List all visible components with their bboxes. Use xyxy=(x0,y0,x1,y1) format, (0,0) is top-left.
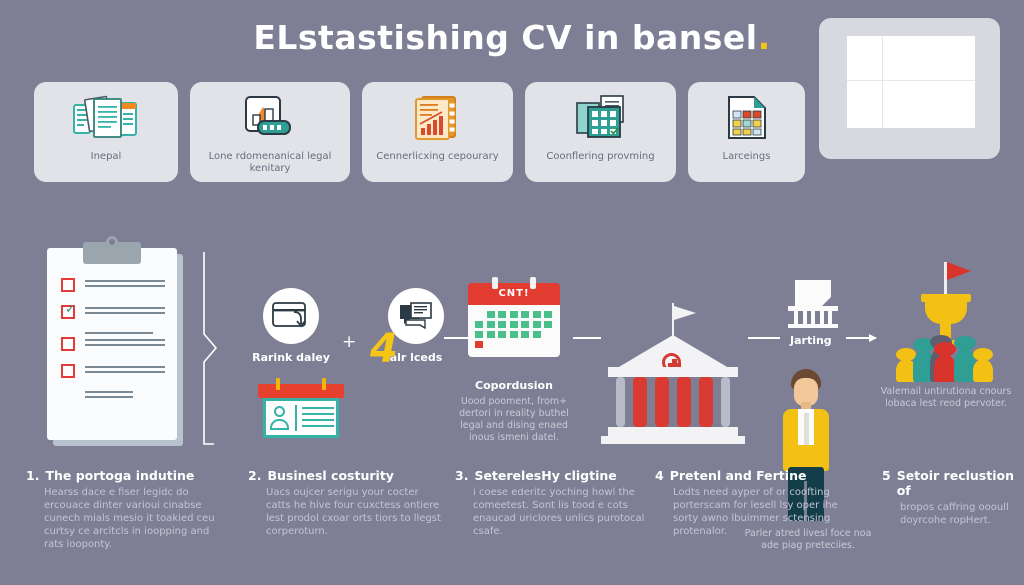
flow-connector-line xyxy=(573,337,601,339)
bank-document-icon xyxy=(786,280,840,328)
step-heading: 3. SeterelesHy cligtine xyxy=(455,468,651,483)
id-card-text-lines xyxy=(302,407,334,431)
step-body: Lodts need ayper of or coofting portersc… xyxy=(655,486,845,538)
step-number: 1. xyxy=(26,468,39,483)
flow-arrow-right xyxy=(846,337,876,339)
clipboard-page: ✓ xyxy=(47,248,177,440)
bank-plinth xyxy=(601,436,745,444)
team-pawns xyxy=(880,322,1012,382)
group-caption: Valemail untirutiona cnours lobaca lest … xyxy=(868,386,1024,410)
checkbox-unchecked[interactable] xyxy=(61,278,75,292)
category-card-label: Cennerlicxing cepourary xyxy=(376,151,498,163)
check-mark-icon: ✓ xyxy=(65,302,76,317)
clipboard-checklist-icon: ✓ xyxy=(47,248,183,446)
checkbox-unchecked[interactable] xyxy=(61,337,75,351)
id-card-avatar-torso xyxy=(270,419,289,430)
bank-base xyxy=(608,427,738,436)
id-card-peg xyxy=(276,378,280,390)
step-body: Hearss dace e fiser legidc do ercouace d… xyxy=(26,486,222,551)
step-title: SeterelesHy cligtine xyxy=(474,468,616,483)
card-return-icon xyxy=(263,288,319,344)
flow-node-copordusion: Copordusion Uood pooment, from+ dertori … xyxy=(455,372,573,444)
step-number: 3. xyxy=(455,468,468,483)
clipboard-row xyxy=(61,278,165,292)
clipboard-text-lines xyxy=(85,278,165,290)
flow-node-caption: Copordusion xyxy=(455,379,573,392)
mini-bank-sheet xyxy=(795,280,831,306)
step-item-2: 2. Businesl costurity Uacs oujcer serigu… xyxy=(248,468,444,538)
page-title-text: ELstastishing CV in bansel xyxy=(253,18,757,57)
mini-bank-base xyxy=(788,324,838,328)
clipboard-rows: ✓ xyxy=(61,278,165,401)
step-heading: 4 Pretenl and Fertine xyxy=(655,468,845,483)
trophy-cup xyxy=(925,298,967,324)
documents-icon xyxy=(73,93,139,143)
clipboard-row xyxy=(61,364,165,378)
trophy-team-icon xyxy=(880,262,1012,382)
plus-symbol: + xyxy=(342,332,356,352)
calendar-icon: CNT! xyxy=(468,277,560,361)
calendar-header: CNT! xyxy=(468,283,560,305)
trophy-flag xyxy=(947,262,971,280)
id-card-separator xyxy=(295,405,297,431)
sheet-vertical-gridline xyxy=(882,36,883,128)
flow-divider xyxy=(200,252,222,452)
step-item-3: 3. SeterelesHy cligtine i coese ederitc … xyxy=(455,468,651,538)
pawn-red xyxy=(934,342,956,382)
bank-flag xyxy=(674,306,696,320)
step-heading: 5 Setoir reclustion of xyxy=(882,468,1022,498)
step-body: Uacs oujcer serigu your cocter catts he … xyxy=(248,486,444,538)
category-card-provming[interactable]: Coonflering provming xyxy=(525,82,676,182)
title-period: . xyxy=(758,18,771,57)
id-card-header xyxy=(258,384,344,398)
bar-chart-report-icon xyxy=(414,93,462,143)
step-number: 5 xyxy=(882,468,891,483)
calendar-peg xyxy=(530,277,536,289)
blank-sheet xyxy=(847,36,975,128)
clipboard-text-lines xyxy=(85,332,165,334)
step-list: 1. The portoga indutine Hearss dace e fi… xyxy=(0,468,1024,578)
flow-node-caption-jarting: Jarting xyxy=(790,334,832,347)
spreadsheet-grid-icon xyxy=(726,93,768,143)
step-item-4: 4 Pretenl and Fertine Lodts need ayper o… xyxy=(655,468,845,538)
blank-preview-panel xyxy=(819,18,1000,159)
clipboard-text-lines xyxy=(85,391,165,398)
id-card-icon xyxy=(258,378,344,441)
category-card-larceings[interactable]: Larceings xyxy=(688,82,805,182)
flow-connector-line xyxy=(748,337,780,339)
category-card-label: Coonflering provming xyxy=(546,151,654,163)
clipboard-row xyxy=(61,337,165,351)
building-chart-icon xyxy=(244,93,296,143)
checkbox-unchecked[interactable] xyxy=(61,364,75,378)
bank-columns xyxy=(616,377,730,427)
flow-node-rarink-daley[interactable]: Rarink daley xyxy=(245,288,337,364)
category-card-legal-kenitary[interactable]: Lone rdomenanical legal kenitary xyxy=(190,82,350,182)
step-title: Businesl costurity xyxy=(267,468,394,483)
sheet-horizontal-gridline xyxy=(847,80,975,81)
step-heading: 2. Businesl costurity xyxy=(248,468,444,483)
category-card-label: Inepal xyxy=(91,151,122,163)
flow-step-digit-4: 4 xyxy=(370,329,398,369)
calendar-body xyxy=(468,305,560,357)
category-card-label: Larceings xyxy=(723,151,771,163)
id-card-avatar-head xyxy=(274,406,285,417)
infographic-poster: ELstastishing CV in bansel. xyxy=(0,0,1024,585)
pawn-yellow-right xyxy=(973,348,993,382)
clipboard-row: ✓ xyxy=(61,305,165,319)
page-fold-corner xyxy=(822,297,831,306)
step-number: 2. xyxy=(248,468,261,483)
step-heading: 1. The portoga indutine xyxy=(26,468,222,483)
checkbox-checked[interactable]: ✓ xyxy=(61,305,75,319)
step-title: The portoga indutine xyxy=(45,468,194,483)
step-title: Setoir reclustion of xyxy=(897,468,1022,498)
step-item-5: 5 Setoir reclustion of bropos caffring o… xyxy=(882,468,1022,527)
step-item-1: 1. The portoga indutine Hearss dace e fi… xyxy=(26,468,222,551)
step-body: bropos caffring oooull doyrcohe ropHert. xyxy=(882,501,1022,527)
category-card-cepourary[interactable]: Cennerlicxing cepourary xyxy=(362,82,513,182)
avatar-tie xyxy=(804,413,809,445)
clipboard-text-lines xyxy=(85,364,165,376)
mini-bank-columns xyxy=(794,311,832,324)
bank-building-icon xyxy=(598,303,748,453)
id-card-body xyxy=(263,398,339,438)
clipboard-ring xyxy=(106,236,118,248)
category-card-inepal[interactable]: Inepal xyxy=(34,82,178,182)
step-number: 4 xyxy=(655,468,664,483)
id-card-peg xyxy=(322,378,326,390)
clipboard-text-lines xyxy=(85,305,165,317)
flow-node-caption: Rarink daley xyxy=(245,351,337,364)
bank-architrave xyxy=(608,367,738,377)
flow-node-body: Uood pooment, from+ dertori in reality b… xyxy=(455,396,573,444)
calendar-stack-icon xyxy=(575,93,627,143)
category-card-row: Inepal Lone rdomenanical legal kenitary xyxy=(34,82,805,182)
clipboard-text-lines xyxy=(85,337,165,349)
calendar-peg xyxy=(492,277,498,289)
calendar-grid xyxy=(475,311,553,348)
category-card-label: Lone rdomenanical legal kenitary xyxy=(208,151,332,175)
step-body: i coese ederitc yoching howl the comeete… xyxy=(455,486,651,538)
step-title: Pretenl and Fertine xyxy=(670,468,807,483)
